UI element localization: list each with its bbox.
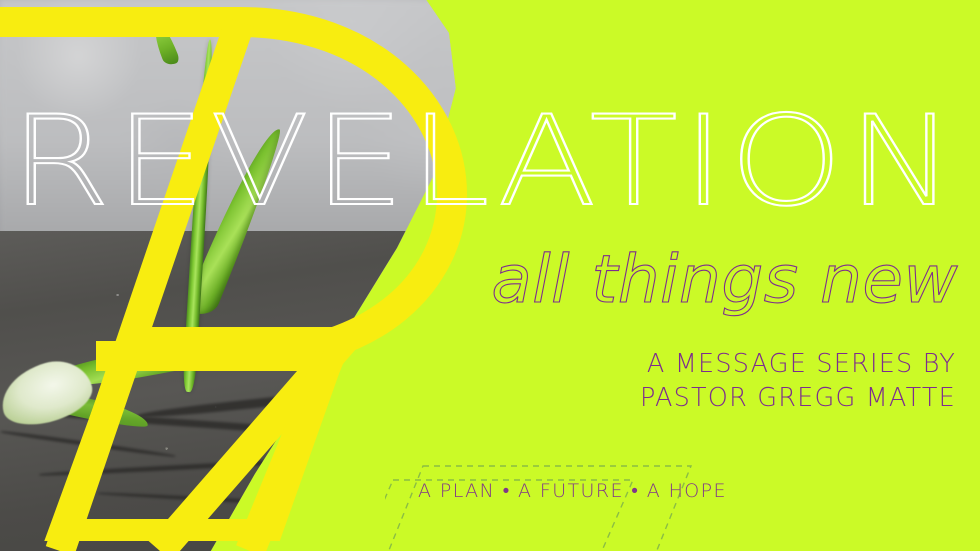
series-subtitle: all things new: [398, 247, 958, 313]
dashed-parallelogram: [385, 466, 691, 551]
tagline: A PLAN • A FUTURE • A HOPE: [418, 480, 727, 503]
byline: A MESSAGE SERIES BY PASTOR GREGG MATTE: [336, 348, 956, 415]
byline-line-2: PASTOR GREGG MATTE: [336, 382, 956, 416]
asphalt-crack: [39, 451, 431, 477]
asphalt-crack: [98, 491, 431, 512]
byline-line-1: A MESSAGE SERIES BY: [336, 348, 956, 382]
sermon-series-graphic: REVELATION all things new A MESSAGE SERI…: [0, 0, 980, 551]
asphalt-crack: [1, 430, 176, 459]
